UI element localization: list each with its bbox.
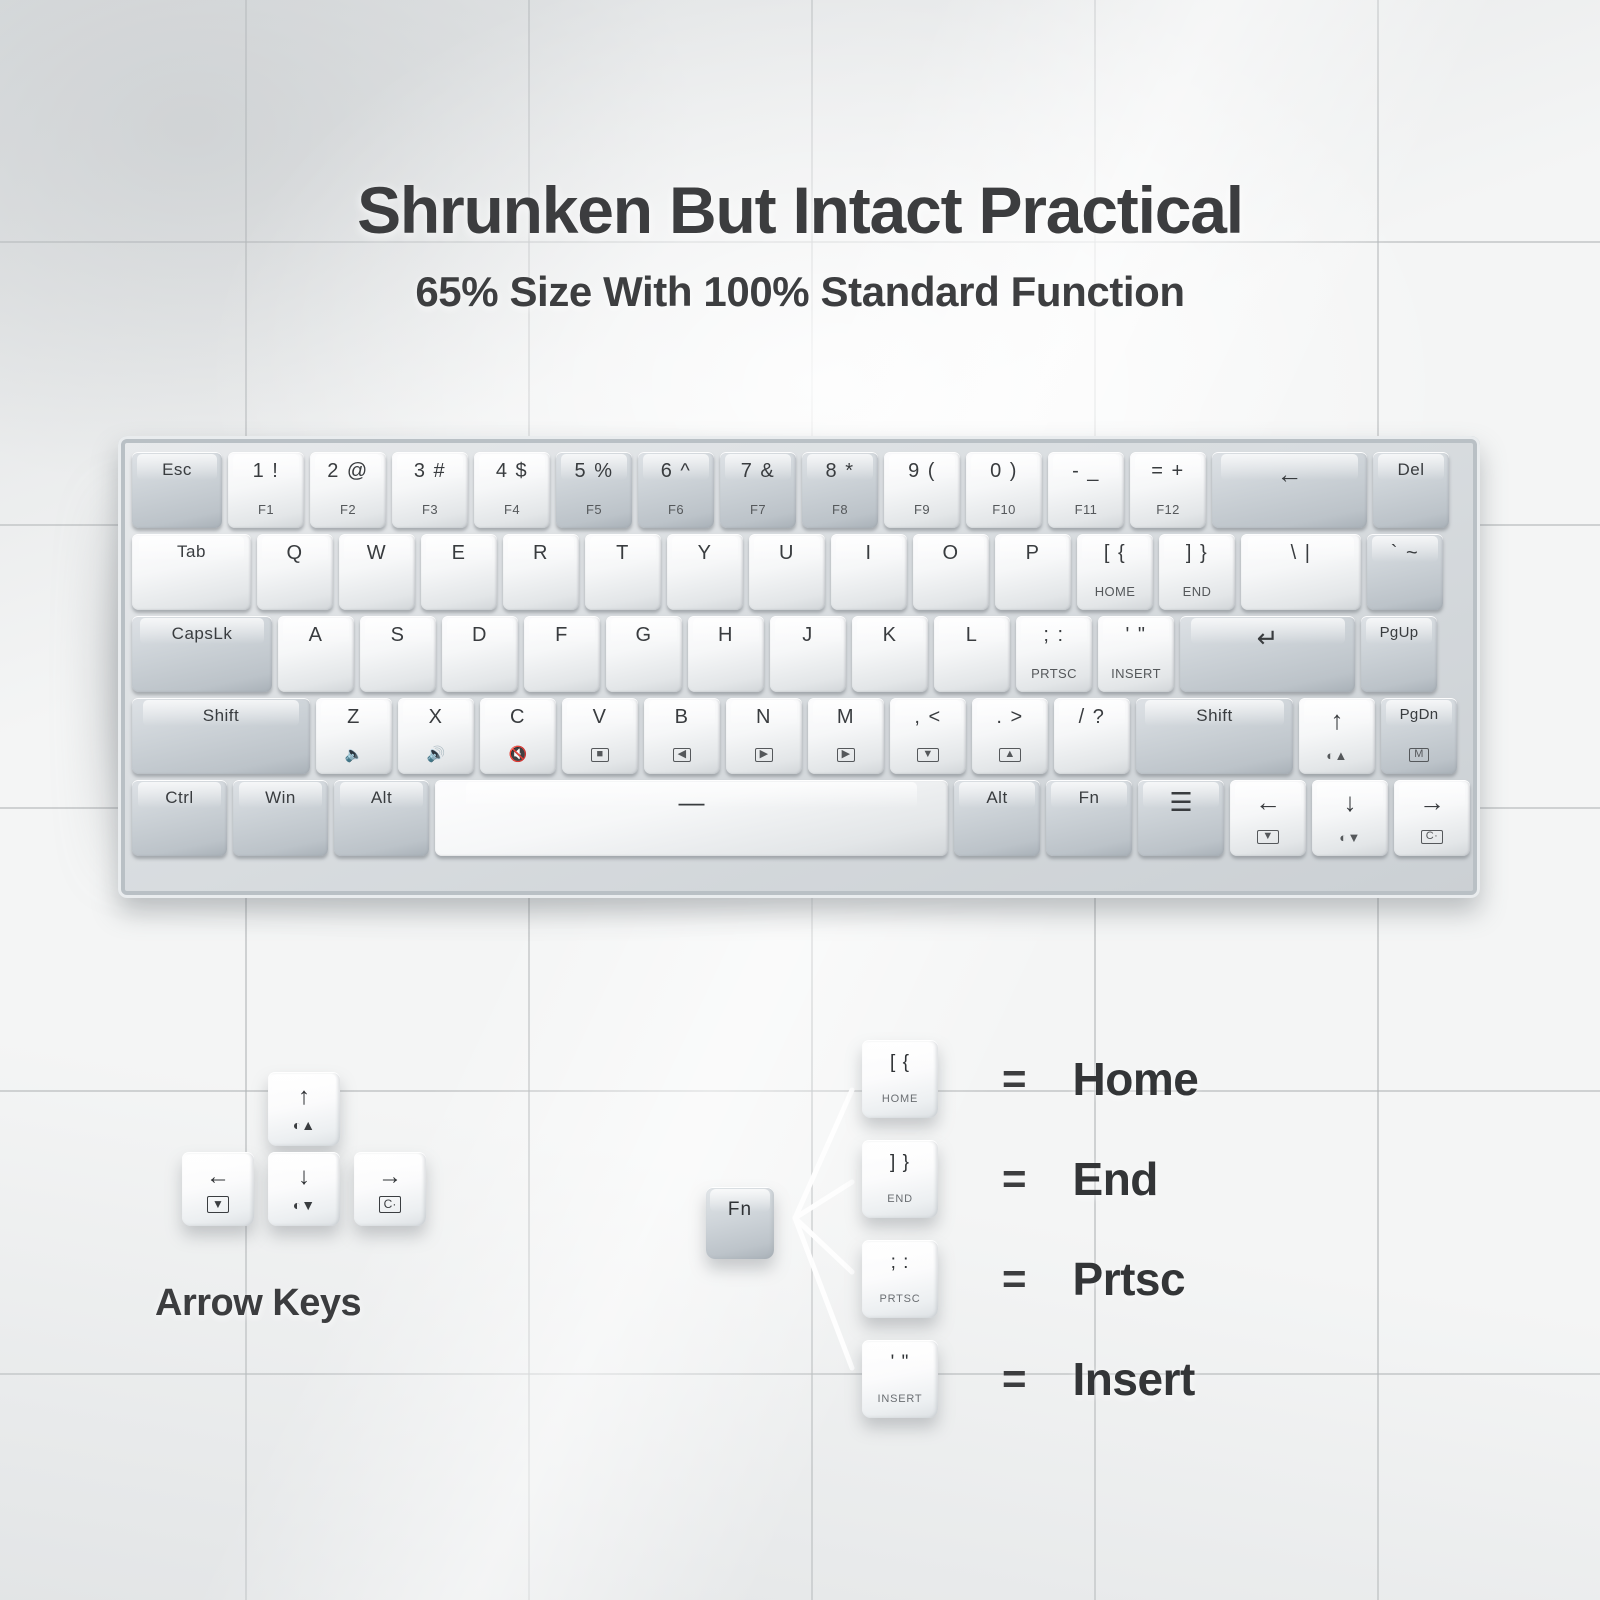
key-equals[interactable]: = +F12 [1130, 452, 1206, 528]
key-z[interactable]: Z🔈 [316, 698, 392, 774]
key-shift-left[interactable]: Shift [132, 698, 310, 774]
key-legend-y: Y [698, 543, 713, 563]
key-legend-t: T [616, 543, 630, 563]
arrow-cluster-legend-arrow-right: → [378, 1165, 402, 1189]
key-n[interactable]: N▶ [726, 698, 802, 774]
key-y[interactable]: Y [667, 534, 743, 610]
fn-combo-equals-end: = [1002, 1158, 1027, 1200]
key-4[interactable]: 4 $F4 [474, 452, 550, 528]
key-legend-5: 5 % [575, 461, 614, 481]
fn-combo-row-home: [ {HOME=Home [862, 1040, 1198, 1118]
key-h[interactable]: H [688, 616, 764, 692]
key-ctrl[interactable]: Ctrl [132, 780, 227, 856]
key-sublegend-quote: INSERT [1098, 667, 1174, 680]
key-j[interactable]: J [770, 616, 846, 692]
key-u[interactable]: U [749, 534, 825, 610]
key-sublegend-8: F8 [802, 503, 878, 516]
page-subtitle: 65% Size With 100% Standard Function [0, 268, 1600, 316]
fn-combo-keycap-home[interactable]: [ {HOME [862, 1040, 938, 1118]
key-delete[interactable]: Del [1373, 452, 1449, 528]
key-escape[interactable]: Esc [132, 452, 222, 528]
key-e[interactable]: E [421, 534, 497, 610]
key-7[interactable]: 7 &F7 [720, 452, 796, 528]
arrow-cluster-sublegend-arrow-down: ◐▼ [268, 1197, 340, 1213]
key-alt-left[interactable]: Alt [334, 780, 429, 856]
key-sublegend-b: ◀ [644, 746, 720, 762]
key-sublegend-bracket-left: HOME [1077, 585, 1153, 598]
key-legend-arrow-down: ↓ [1344, 789, 1357, 815]
row-function: Esc1 !F12 @F23 #F34 $F45 %F56 ^F67 &F78 … [132, 452, 1466, 528]
row-shift: ShiftZ🔈X🔊C🔇V■B◀N▶M▶, <▼. >▲/ ?Shift↑◐▲Pg… [132, 698, 1466, 774]
key-x[interactable]: X🔊 [398, 698, 474, 774]
key-legend-s: S [391, 625, 406, 645]
key-sublegend-3: F3 [392, 503, 468, 516]
fn-combo-keycap-sublegend-insert: INSERT [862, 1393, 938, 1405]
fn-combo-equals-prtsc: = [1002, 1258, 1027, 1300]
key-bracket-left[interactable]: [ {HOME [1077, 534, 1153, 610]
key-legend-pageup: PgUp [1380, 625, 1419, 640]
key-pagedown[interactable]: PgDnM [1381, 698, 1457, 774]
key-sublegend-m: ▶ [808, 746, 884, 762]
key-s[interactable]: S [360, 616, 436, 692]
arrow-keys-label: Arrow Keys [155, 1282, 361, 1325]
key-slash[interactable]: / ? [1054, 698, 1130, 774]
key-legend-backspace: ← [1277, 461, 1303, 487]
key-bracket-right[interactable]: ] }END [1159, 534, 1235, 610]
key-capslock[interactable]: CapsLk [132, 616, 272, 692]
fn-combo-keycap-sublegend-home: HOME [862, 1093, 938, 1105]
key-quote[interactable]: ' "INSERT [1098, 616, 1174, 692]
key-8[interactable]: 8 *F8 [802, 452, 878, 528]
key-0[interactable]: 0 )F10 [966, 452, 1042, 528]
key-alt-right[interactable]: Alt [954, 780, 1040, 856]
key-legend-8: 8 * [826, 461, 855, 481]
key-backslash[interactable]: \ | [1241, 534, 1361, 610]
arrow-cluster-key-arrow-up[interactable]: ↑◐▲ [268, 1072, 340, 1146]
key-legend-m: M [837, 707, 855, 727]
key-t[interactable]: T [585, 534, 661, 610]
key-legend-shift-right: Shift [1196, 707, 1233, 724]
row-bottom: CtrlWinAlt—AltFn☰←▼↓◐▼→C· [132, 780, 1466, 856]
key-2[interactable]: 2 @F2 [310, 452, 386, 528]
key-d[interactable]: D [442, 616, 518, 692]
keyboard-key-matrix: Esc1 !F12 @F23 #F34 $F45 %F56 ^F67 &F78 … [132, 452, 1466, 884]
key-sublegend-2: F2 [310, 503, 386, 516]
key-legend-ctrl: Ctrl [165, 789, 193, 806]
key-legend-equals: = + [1151, 461, 1184, 481]
key-legend-1: 1 ! [253, 461, 280, 481]
arrow-cluster-legend-arrow-down: ↓ [298, 1165, 310, 1189]
key-sublegend-box-b: ◀ [673, 748, 692, 762]
key-sublegend-semicolon: PRTSC [1016, 667, 1092, 680]
arrow-cluster-sublegend-arrow-left: ▼ [182, 1195, 254, 1213]
arrow-cluster-sublegend-arrow-right: C· [354, 1195, 426, 1213]
fn-combo-equals-insert: = [1002, 1358, 1027, 1400]
key-sublegend-period: ▲ [972, 746, 1048, 762]
fn-combo-keycap-sublegend-end: END [862, 1193, 938, 1205]
key-sublegend-box-arrow-left: ▼ [1257, 830, 1278, 844]
key-space[interactable]: — [435, 780, 948, 856]
key-legend-backslash: \ | [1291, 543, 1312, 563]
key-legend-delete: Del [1397, 461, 1424, 478]
key-legend-tab: Tab [177, 543, 206, 560]
key-sublegend-box-n: ▶ [755, 748, 774, 762]
key-f[interactable]: F [524, 616, 600, 692]
key-legend-arrow-up: ↑ [1331, 707, 1344, 733]
key-r[interactable]: R [503, 534, 579, 610]
fn-combo-keycap-legend-home: [ { [890, 1053, 910, 1072]
row-tab: TabQWERTYUIOP[ {HOME] }END\ |` ~ [132, 534, 1466, 610]
arrow-cluster-legend-arrow-left: ← [206, 1165, 230, 1189]
key-sublegend-c: 🔇 [480, 747, 556, 762]
fn-combo-keycap-end[interactable]: ] }END [862, 1140, 938, 1218]
key-legend-l: L [966, 625, 979, 645]
fn-key-callout[interactable]: Fn [706, 1187, 774, 1259]
key-period[interactable]: . >▲ [972, 698, 1048, 774]
key-legend-v: V [593, 707, 608, 727]
key-legend-j: J [802, 625, 814, 645]
key-sublegend-4: F4 [474, 503, 550, 516]
key-legend-i: I [865, 543, 872, 563]
key-legend-x: X [429, 707, 444, 727]
key-5[interactable]: 5 %F5 [556, 452, 632, 528]
key-sublegend-box-comma: ▼ [917, 748, 938, 762]
key-legend-slash: / ? [1079, 707, 1106, 727]
key-legend-z: Z [347, 707, 361, 727]
key-i[interactable]: I [831, 534, 907, 610]
key-legend-7: 7 & [741, 461, 776, 481]
key-legend-p: P [1026, 543, 1041, 563]
key-comma[interactable]: , <▼ [890, 698, 966, 774]
key-sublegend-9: F9 [884, 503, 960, 516]
key-legend-f: F [555, 625, 569, 645]
key-legend-a: A [309, 625, 324, 645]
key-legend-space: — [679, 789, 705, 815]
fn-combo-row-insert: ' "INSERT=Insert [862, 1340, 1195, 1418]
key-legend-enter: ↵ [1257, 625, 1279, 651]
key-legend-quote: ' " [1126, 625, 1147, 645]
fn-combo-result-home: Home [1073, 1052, 1199, 1106]
row-home: CapsLkASDFGHJKL; :PRTSC' "INSERT↵PgUp [132, 616, 1466, 692]
key-sublegend-7: F7 [720, 503, 796, 516]
fn-combo-keycap-sublegend-prtsc: PRTSC [862, 1293, 938, 1305]
key-semicolon[interactable]: ; :PRTSC [1016, 616, 1092, 692]
fn-combo-row-prtsc: ; :PRTSC=Prtsc [862, 1240, 1185, 1318]
fn-combo-keycap-legend-insert: ' " [891, 1353, 910, 1372]
arrow-cluster-sublegend-arrow-up: ◐▲ [268, 1117, 340, 1133]
key-sublegend-0: F10 [966, 503, 1042, 516]
fn-key-label: Fn [728, 1200, 752, 1219]
key-b[interactable]: B◀ [644, 698, 720, 774]
key-enter[interactable]: ↵ [1180, 616, 1355, 692]
key-minus[interactable]: - _F11 [1048, 452, 1124, 528]
key-legend-g: G [635, 625, 652, 645]
fn-combo-result-insert: Insert [1073, 1352, 1195, 1406]
key-legend-pagedown: PgDn [1400, 707, 1439, 722]
key-sublegend-v: ■ [562, 746, 638, 762]
arrow-cluster-sublegend-box-arrow-left: ▼ [207, 1196, 229, 1213]
arrow-cluster-key-arrow-right[interactable]: →C· [354, 1152, 426, 1226]
key-legend-arrow-left: ← [1255, 789, 1281, 815]
key-sublegend-bracket-right: END [1159, 585, 1235, 598]
key-sublegend-box-m: ▶ [837, 748, 856, 762]
key-g[interactable]: G [606, 616, 682, 692]
key-legend-bracket-left: [ { [1104, 543, 1126, 563]
key-legend-e: E [452, 543, 467, 563]
key-legend-bracket-right: ] } [1186, 543, 1208, 563]
key-sublegend-arrow-down: ◐▼ [1312, 831, 1388, 844]
key-tab[interactable]: Tab [132, 534, 251, 610]
key-sublegend-pagedown: M [1381, 746, 1457, 762]
key-shift-right[interactable]: Shift [1136, 698, 1293, 774]
fn-combo-row-end: ] }END=End [862, 1140, 1158, 1218]
key-legend-2: 2 @ [327, 461, 368, 481]
fn-combo-keycap-legend-end: ] } [890, 1153, 910, 1172]
key-grave[interactable]: ` ~ [1367, 534, 1443, 610]
key-sublegend-n: ▶ [726, 746, 802, 762]
key-legend-0: 0 ) [990, 461, 1018, 481]
key-legend-semicolon: ; : [1043, 625, 1064, 645]
key-sublegend-comma: ▼ [890, 746, 966, 762]
arrow-cluster-key-arrow-left[interactable]: ←▼ [182, 1152, 254, 1226]
key-legend-fn: Fn [1079, 789, 1100, 806]
key-legend-capslock: CapsLk [172, 625, 233, 642]
fn-combo-keycap-insert[interactable]: ' "INSERT [862, 1340, 938, 1418]
key-backspace[interactable]: ← [1212, 452, 1367, 528]
arrow-cluster-sublegend-box-arrow-right: C· [379, 1196, 402, 1213]
key-sublegend-5: F5 [556, 503, 632, 516]
page-title: Shrunken But Intact Practical [0, 172, 1600, 248]
key-legend-u: U [779, 543, 795, 563]
key-win[interactable]: Win [233, 780, 328, 856]
key-q[interactable]: Q [257, 534, 333, 610]
fn-combo-result-prtsc: Prtsc [1073, 1252, 1186, 1306]
key-legend-r: R [533, 543, 549, 563]
key-p[interactable]: P [995, 534, 1071, 610]
arrow-cluster-key-arrow-down[interactable]: ↓◐▼ [268, 1152, 340, 1226]
key-legend-3: 3 # [414, 461, 446, 481]
key-sublegend-x: 🔊 [398, 747, 474, 762]
key-legend-alt-right: Alt [986, 789, 1007, 806]
key-legend-minus: - _ [1072, 461, 1100, 481]
key-sublegend-arrow-left: ▼ [1230, 828, 1306, 844]
key-9[interactable]: 9 (F9 [884, 452, 960, 528]
key-legend-arrow-right: → [1419, 789, 1445, 815]
key-legend-w: W [367, 543, 387, 563]
key-legend-escape: Esc [162, 461, 192, 478]
key-fn[interactable]: Fn [1046, 780, 1132, 856]
key-m[interactable]: M▶ [808, 698, 884, 774]
arrow-cluster-legend-arrow-up: ↑ [298, 1085, 310, 1109]
key-legend-c: C [510, 707, 526, 727]
key-3[interactable]: 3 #F3 [392, 452, 468, 528]
key-legend-h: H [718, 625, 734, 645]
key-sublegend-box-pagedown: M [1409, 748, 1429, 762]
key-arrow-left[interactable]: ←▼ [1230, 780, 1306, 856]
key-legend-grave: ` ~ [1391, 543, 1419, 563]
fn-combo-result-end: End [1073, 1152, 1158, 1206]
key-sublegend-box-period: ▲ [999, 748, 1020, 762]
key-sublegend-box-v: ■ [591, 748, 608, 762]
key-sublegend-z: 🔈 [316, 747, 392, 762]
key-legend-q: Q [286, 543, 303, 563]
key-sublegend-minus: F11 [1048, 503, 1124, 516]
key-menu[interactable]: ☰ [1138, 780, 1224, 856]
key-legend-alt-left: Alt [371, 789, 392, 806]
key-l[interactable]: L [934, 616, 1010, 692]
key-legend-k: K [883, 625, 898, 645]
infographic-canvas: Shrunken But Intact Practical 65% Size W… [0, 0, 1600, 1600]
fn-combo-keycap-prtsc[interactable]: ; :PRTSC [862, 1240, 938, 1318]
key-legend-b: B [675, 707, 690, 727]
key-pageup[interactable]: PgUp [1361, 616, 1437, 692]
key-6[interactable]: 6 ^F6 [638, 452, 714, 528]
key-sublegend-arrow-right: C· [1394, 828, 1470, 844]
key-o[interactable]: O [913, 534, 989, 610]
key-arrow-right[interactable]: →C· [1394, 780, 1470, 856]
key-v[interactable]: V■ [562, 698, 638, 774]
key-arrow-up[interactable]: ↑◐▲ [1299, 698, 1375, 774]
key-legend-n: N [756, 707, 772, 727]
key-legend-comma: , < [914, 707, 941, 727]
key-legend-4: 4 $ [496, 461, 528, 481]
key-a[interactable]: A [278, 616, 354, 692]
key-legend-6: 6 ^ [661, 461, 692, 481]
key-legend-o: O [942, 543, 959, 563]
fn-combo-equals-home: = [1002, 1058, 1027, 1100]
key-1[interactable]: 1 !F1 [228, 452, 304, 528]
key-sublegend-box-arrow-right: C· [1421, 830, 1443, 844]
key-legend-win: Win [265, 789, 296, 806]
key-legend-shift-left: Shift [203, 707, 240, 724]
keyboard-case: Esc1 !F12 @F23 #F34 $F45 %F56 ^F67 &F78 … [118, 436, 1480, 898]
key-arrow-down[interactable]: ↓◐▼ [1312, 780, 1388, 856]
key-legend-d: D [472, 625, 488, 645]
fn-combo-keycap-legend-prtsc: ; : [891, 1253, 910, 1272]
key-legend-menu: ☰ [1169, 789, 1192, 815]
key-sublegend-arrow-up: ◐▲ [1299, 749, 1375, 762]
key-k[interactable]: K [852, 616, 928, 692]
key-sublegend-1: F1 [228, 503, 304, 516]
key-sublegend-equals: F12 [1130, 503, 1206, 516]
key-w[interactable]: W [339, 534, 415, 610]
key-c[interactable]: C🔇 [480, 698, 556, 774]
key-sublegend-6: F6 [638, 503, 714, 516]
key-legend-period: . > [996, 707, 1023, 727]
key-legend-9: 9 ( [908, 461, 936, 481]
